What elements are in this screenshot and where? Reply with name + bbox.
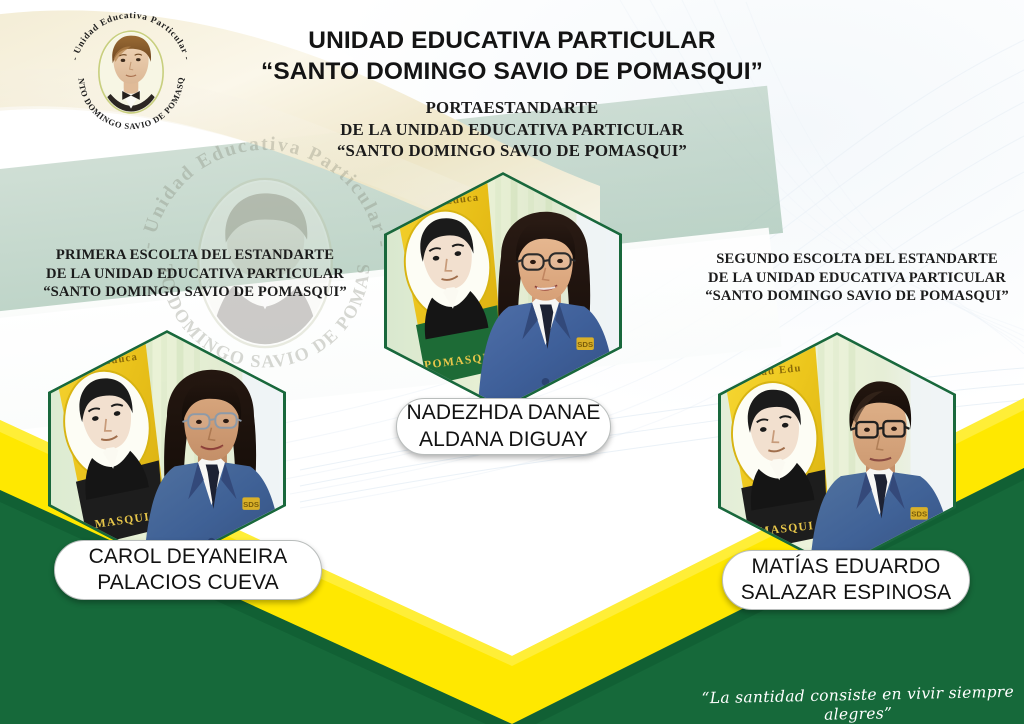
svg-text:SDS: SDS (577, 340, 593, 349)
caption-right-line-3: “SANTO DOMINGO SAVIO DE POMASQUI” (697, 287, 1017, 306)
name-center-line-2: ALDANA DIGUAY (407, 427, 601, 454)
name-left-line-2: PALACIOS CUEVA (89, 570, 288, 597)
name-badge-primera-escolta[interactable]: CAROL DEYANEIRA PALACIOS CUEVA (54, 540, 322, 600)
name-badge-segundo-escolta[interactable]: MATÍAS EDUARDO SALAZAR ESPINOSA (722, 550, 970, 610)
school-crest-logo: - Unidad Educativa Particular - “SANTO D… (58, 2, 204, 148)
caption-left-line-3: “SANTO DOMINGO SAVIO DE POMASQUI” (35, 283, 355, 302)
svg-text:SDS: SDS (911, 510, 927, 519)
motto-quote: “La santidad consiste en vivir siempre a… (700, 683, 1017, 724)
svg-text:SDS: SDS (243, 500, 259, 509)
caption-segundo-escolta: SEGUNDO ESCOLTA DEL ESTANDARTE DE LA UNI… (697, 250, 1017, 306)
caption-right-line-1: SEGUNDO ESCOLTA DEL ESTANDARTE (697, 250, 1017, 269)
name-center-line-1: NADEZHDA DANAE (407, 400, 601, 427)
name-right-line-1: MATÍAS EDUARDO (741, 554, 952, 581)
caption-left-line-2: DE LA UNIDAD EDUCATIVA PARTICULAR (35, 265, 355, 284)
poster-canvas: - Unidad Educativa Particular - “SANTO D… (0, 0, 1024, 724)
name-badge-portaestandarte[interactable]: NADEZHDA DANAE ALDANA DIGUAY (396, 398, 611, 455)
caption-left-line-1: PRIMERA ESCOLTA DEL ESTANDARTE (35, 246, 355, 265)
caption-right-line-2: DE LA UNIDAD EDUCATIVA PARTICULAR (697, 269, 1017, 288)
caption-primera-escolta: PRIMERA ESCOLTA DEL ESTANDARTE DE LA UNI… (35, 246, 355, 302)
name-left-line-1: CAROL DEYANEIRA (89, 544, 288, 571)
name-right-line-2: SALAZAR ESPINOSA (741, 580, 952, 607)
